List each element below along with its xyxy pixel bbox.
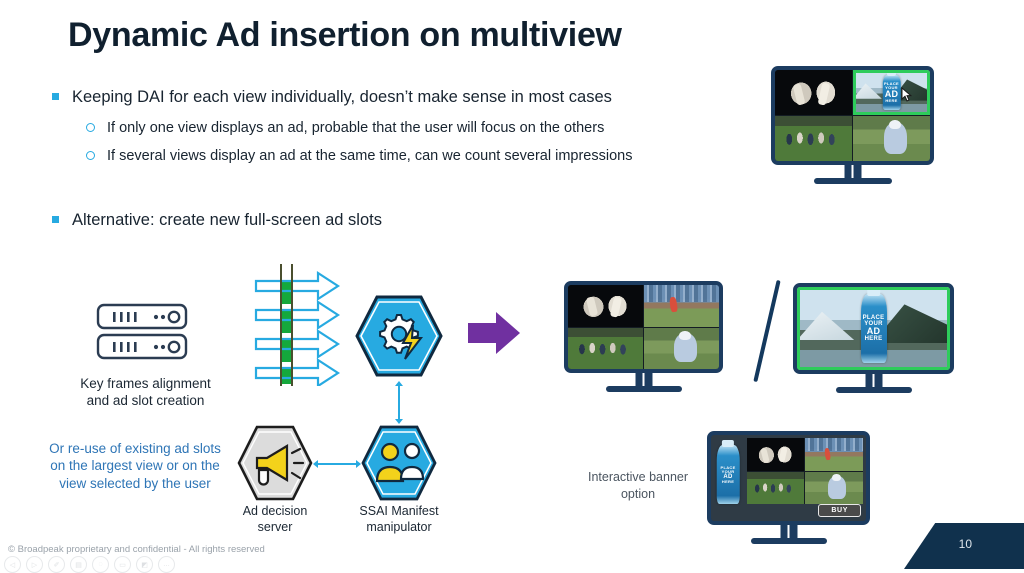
bullet-level1-keeping-dai: Keeping DAI for each view individually, …	[52, 88, 612, 107]
mouse-cursor-icon	[901, 87, 912, 102]
page-title: Dynamic Ad insertion on multiview	[68, 16, 622, 55]
tv-stand-base	[814, 178, 892, 184]
slide-canvas: Dynamic Ad insertion on multiview Keepin…	[0, 0, 1024, 569]
ad-highlight-border	[797, 287, 950, 370]
server-stack-icon	[96, 303, 188, 361]
bullet-text: If only one view displays an ad, probabl…	[107, 120, 604, 136]
tv-multiview-output	[564, 281, 723, 373]
caption-keyframes: Key frames alignment and ad slot creatio…	[38, 375, 253, 410]
quad-cell-cycling	[805, 472, 863, 504]
quad-view-grid	[747, 438, 863, 503]
page-number: 10	[959, 537, 972, 551]
tv-screen: PLACE YOURAD HERE BUY	[711, 435, 866, 521]
more-icon[interactable]: …	[158, 556, 175, 573]
label-ssai-manifest-manipulator: SSAI Manifest manipulator	[339, 503, 459, 536]
quad-view-region	[747, 438, 863, 503]
tv-screen: PLACE YOURAD HERE	[797, 287, 950, 370]
tv-multiview-highlighted: PLACE YOURAD HERE	[771, 66, 934, 165]
banner-ad-strip[interactable]: PLACE YOURAD HERE	[711, 435, 745, 521]
quad-cell-rugby	[775, 116, 852, 161]
tv-stand-neck	[865, 374, 882, 388]
selection-highlight-border	[853, 70, 930, 115]
tv-stand-neck	[635, 373, 652, 387]
quad-cell-fencing	[747, 438, 805, 470]
quad-view-grid: PLACE YOURAD HERE	[775, 70, 930, 161]
tv-stand-neck	[780, 525, 797, 539]
bottle-ad-creative: PLACE YOURAD HERE	[717, 445, 740, 503]
presentation-toolbar[interactable]: ◁ ▷ ✐ ▤ ◌ ▭ ◩ …	[4, 556, 175, 573]
bullet-level1-alternative: Alternative: create new full-screen ad s…	[52, 211, 382, 230]
label-interactive-banner: Interactive banner option	[568, 469, 708, 503]
quad-cell-cycling	[644, 328, 719, 370]
bullet-level2-several-views: If several views display an ad at the sa…	[86, 148, 632, 164]
prev-icon[interactable]: ◁	[4, 556, 21, 573]
quad-cell-rugby	[568, 328, 643, 370]
play-icon[interactable]: ▷	[26, 556, 43, 573]
bullet-level2-one-view: If only one view displays an ad, probabl…	[86, 120, 604, 136]
bullet-square-icon	[52, 216, 59, 223]
gear-lightning-hexagon-icon	[355, 295, 443, 377]
zoom-icon[interactable]: ◌	[92, 556, 109, 573]
quad-cell-athletics	[644, 285, 719, 327]
diagonal-slash-separator	[753, 280, 780, 382]
quad-cell-fencing	[775, 70, 852, 115]
ad-text: PLACE YOURAD HERE	[721, 466, 736, 484]
tv-interactive-banner: PLACE YOURAD HERE BUY	[707, 431, 870, 525]
quad-view-grid	[568, 285, 719, 369]
connector-ads-ssai	[317, 463, 357, 465]
pen-icon[interactable]: ✐	[48, 556, 65, 573]
tv-stand-base	[836, 387, 912, 393]
tv-stand-neck	[844, 165, 861, 179]
tv-stand-base	[751, 538, 827, 544]
bullet-text: Alternative: create new full-screen ad s…	[72, 211, 382, 229]
highlight-icon[interactable]: ▤	[70, 556, 87, 573]
purple-right-arrow-icon	[466, 310, 522, 356]
bottle-cap	[722, 440, 734, 447]
quad-cell-ad-highlighted[interactable]: PLACE YOURAD HERE	[853, 70, 930, 115]
quad-cell-fencing	[568, 285, 643, 327]
bullet-text: If several views display an ad at the sa…	[107, 148, 632, 164]
buy-button[interactable]: BUY	[818, 504, 861, 517]
connector-packager-ssai	[398, 385, 400, 420]
footer-copyright: © Broadpeak proprietary and confidential…	[8, 544, 265, 555]
label-ad-decision-server: Ad decision server	[215, 503, 335, 536]
tv-fullscreen-ad: PLACE YOURAD HERE	[793, 283, 954, 374]
tv-stand-base	[606, 386, 682, 392]
tv-screen: PLACE YOURAD HERE	[775, 70, 930, 161]
quad-cell-rugby	[747, 472, 805, 504]
bullet-circle-icon	[86, 151, 95, 160]
quad-cell-athletics	[805, 438, 863, 470]
bullet-circle-icon	[86, 123, 95, 132]
keyframe-arrows-icon	[252, 264, 362, 386]
bullet-text: Keeping DAI for each view individually, …	[72, 88, 612, 106]
people-hexagon-icon	[361, 425, 437, 501]
caption-reuse-ad-slots: Or re-use of existing ad slots on the la…	[20, 440, 250, 492]
bullet-square-icon	[52, 93, 59, 100]
tv-screen	[568, 285, 719, 369]
present-icon[interactable]: ◩	[136, 556, 153, 573]
screen-icon[interactable]: ▭	[114, 556, 131, 573]
quad-cell-cycling	[853, 116, 930, 161]
